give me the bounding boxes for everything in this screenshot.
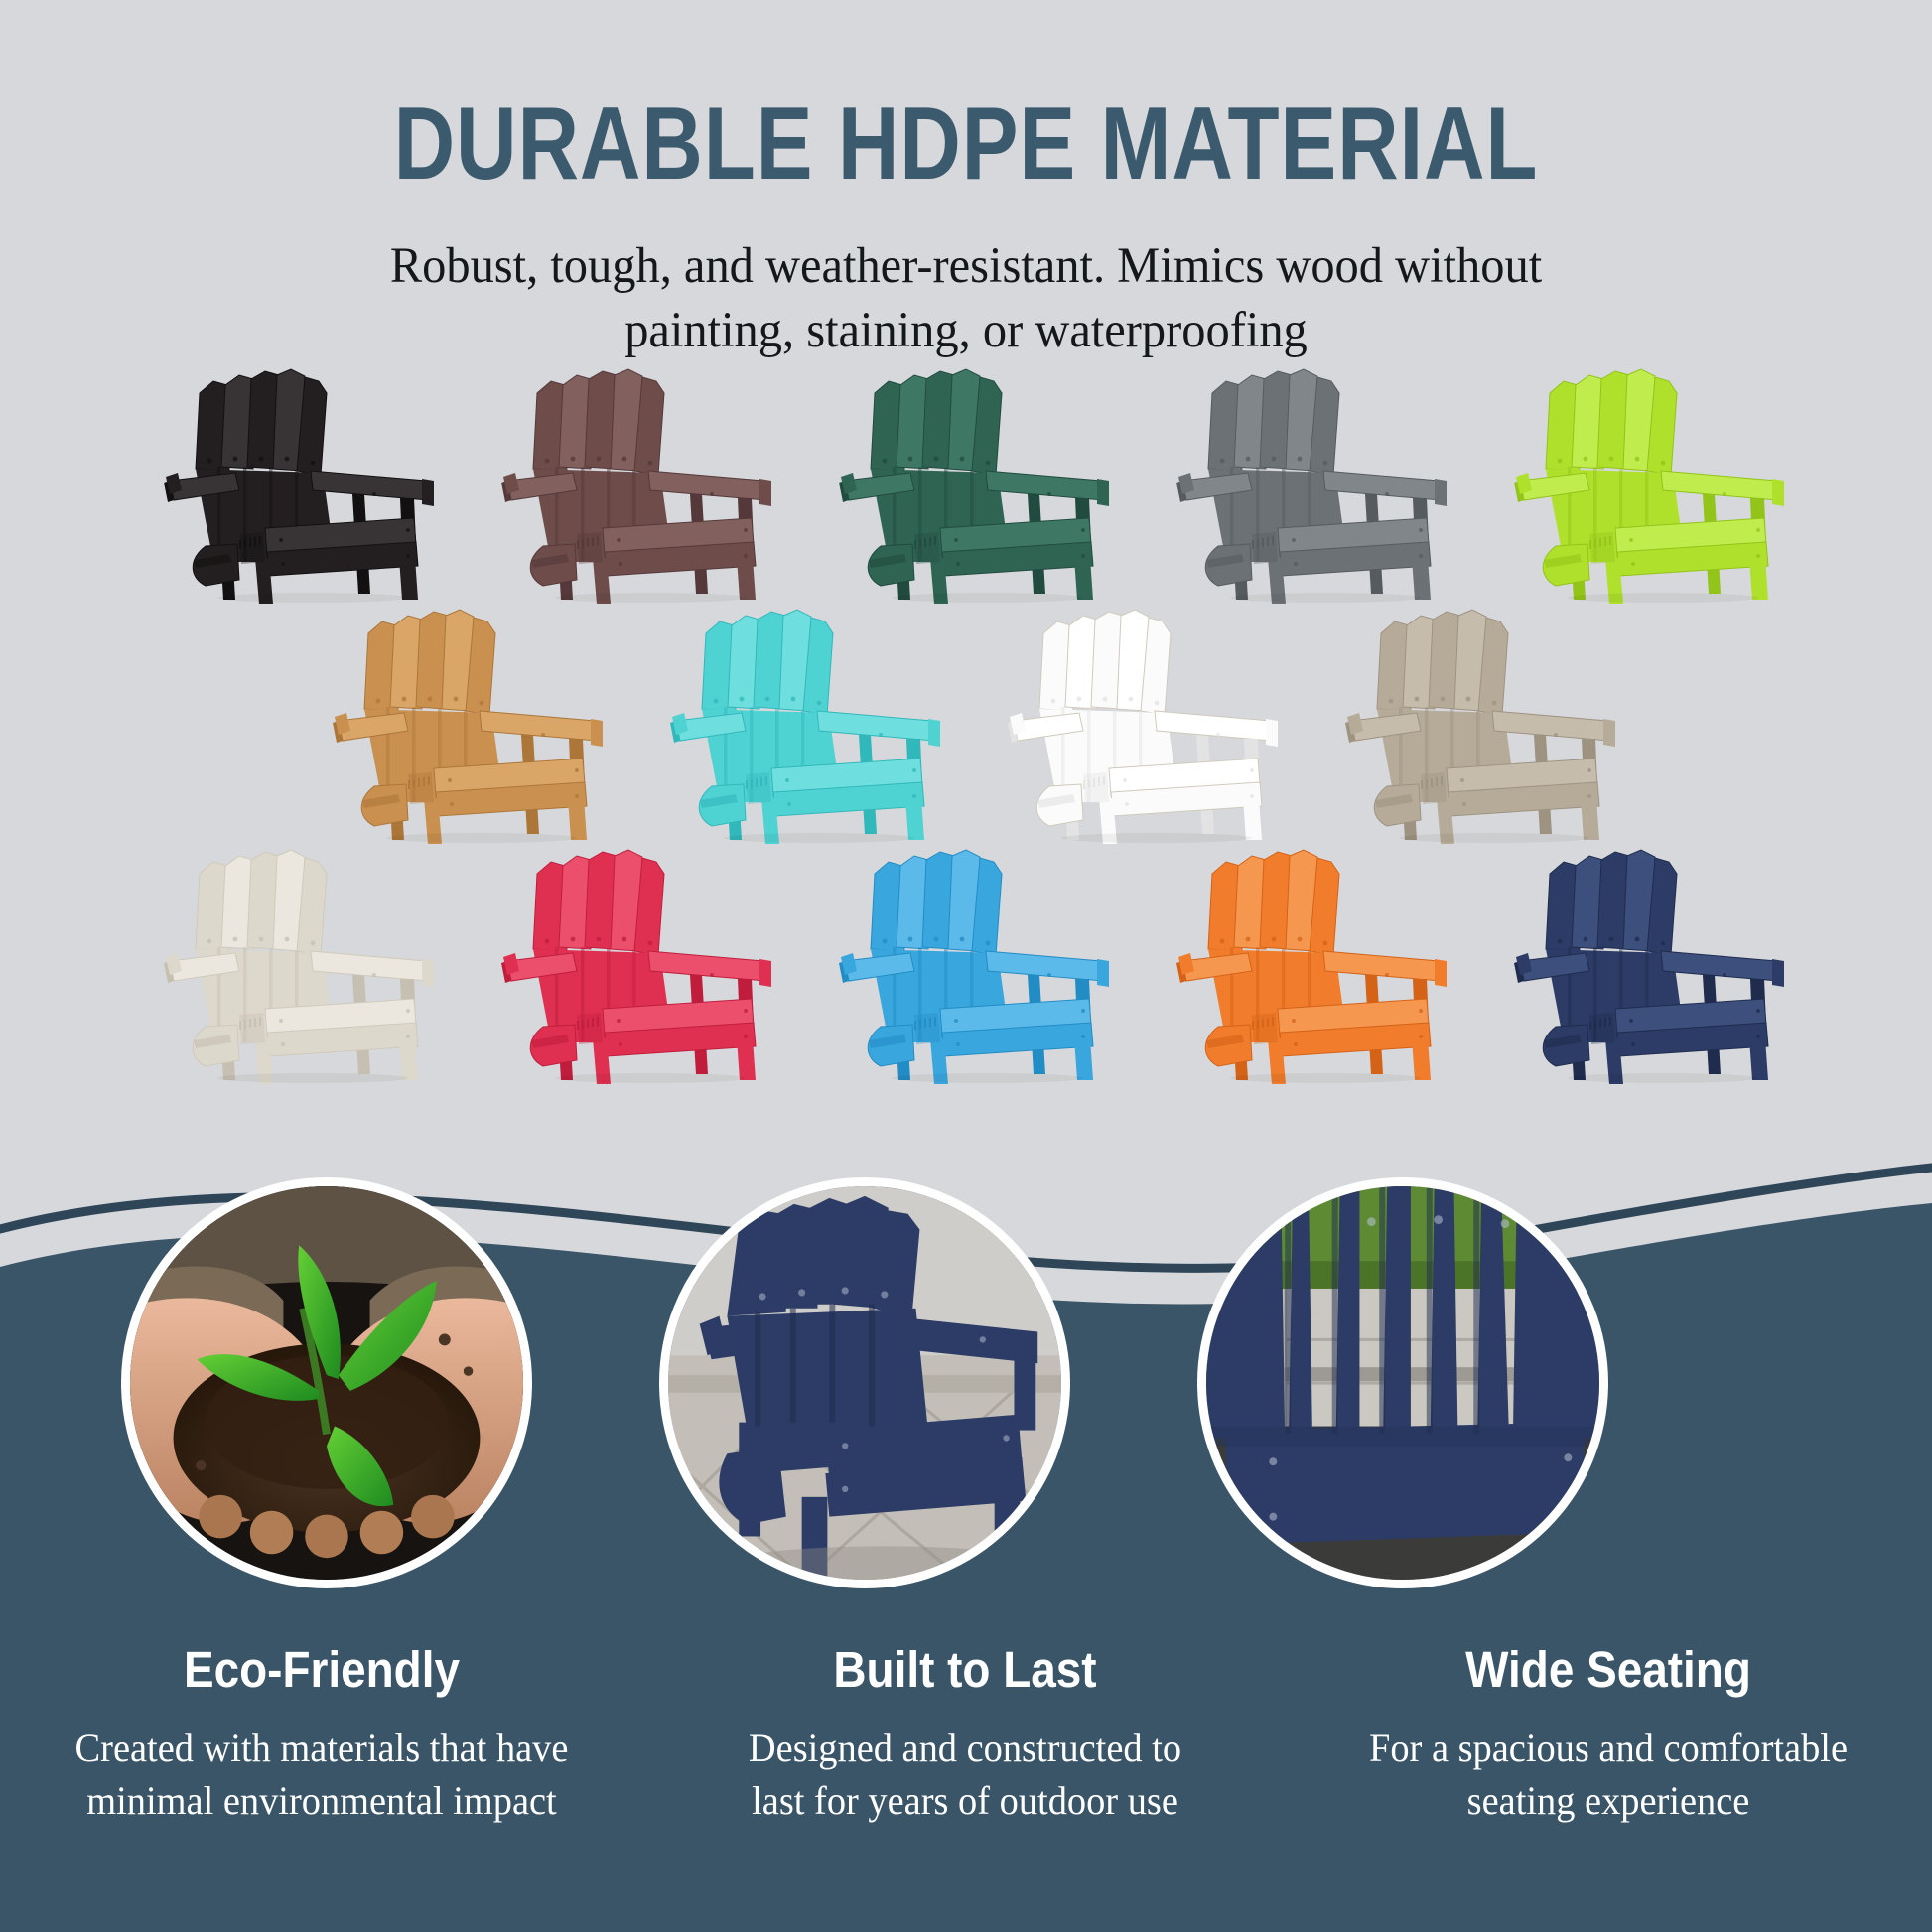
adirondack-chair-brown <box>482 349 775 604</box>
chair-swatch-beige[interactable] <box>1325 590 1619 844</box>
feature-description: Created with materials that haveminimal … <box>38 1723 606 1828</box>
feature-desc-line-1: For a spacious and comfortable <box>1369 1725 1848 1770</box>
built-to-last-photo <box>659 1177 1070 1588</box>
feature-desc-line-1: Designed and constructed to <box>749 1725 1181 1770</box>
adirondack-chair-light-blue <box>819 830 1113 1084</box>
feature-desc-line-1: Created with materials that have <box>75 1725 569 1770</box>
chair-color-grid <box>0 349 1932 1084</box>
page-title: DURABLE HDPE MATERIAL <box>174 91 1758 197</box>
chair-swatch-white[interactable] <box>988 590 1282 844</box>
adirondack-chair-ivory <box>144 830 438 1084</box>
hands-holding-seedling-icon <box>130 1186 523 1580</box>
feature-description: Designed and constructed tolast for year… <box>681 1723 1249 1828</box>
adirondack-chair-beige <box>1325 590 1619 844</box>
adirondack-chair-teak <box>313 590 607 844</box>
chair-swatch-orange[interactable] <box>1157 830 1450 1084</box>
feature-2: Built to LastDesigned and constructed to… <box>643 1640 1287 1828</box>
chair-swatch-lime-green[interactable] <box>1494 349 1788 604</box>
feature-photo-row <box>0 1177 1932 1644</box>
chair-row-2 <box>0 590 1932 844</box>
adirondack-chair-turquoise <box>650 590 944 844</box>
chair-swatch-red[interactable] <box>482 830 775 1084</box>
feature-3: Wide SeatingFor a spacious and comfortab… <box>1287 1640 1930 1828</box>
chair-row-3 <box>0 830 1932 1084</box>
adirondack-chair-orange <box>1157 830 1450 1084</box>
navy-adirondack-chair-icon <box>668 1186 1061 1580</box>
adirondack-chair-white <box>988 590 1282 844</box>
adirondack-chair-red <box>482 830 775 1084</box>
wide-seating-photo <box>1197 1177 1608 1588</box>
chair-row-1 <box>0 349 1932 604</box>
infographic-canvas: DURABLE HDPE MATERIAL Robust, tough, and… <box>0 0 1932 1932</box>
feature-1: Eco-FriendlyCreated with materials that … <box>0 1640 643 1828</box>
subtitle: Robust, tough, and weather-resistant. Mi… <box>49 234 1884 364</box>
chair-swatch-turquoise[interactable] <box>650 590 944 844</box>
feature-desc-line-2: last for years of outdoor use <box>752 1778 1178 1823</box>
chair-swatch-gray[interactable] <box>1157 349 1450 604</box>
adirondack-chair-lime-green <box>1494 349 1788 604</box>
eco-friendly-photo <box>121 1177 532 1588</box>
adirondack-chair-gray <box>1157 349 1450 604</box>
chair-swatch-brown[interactable] <box>482 349 775 604</box>
chair-swatch-black[interactable] <box>144 349 438 604</box>
feature-heading: Built to Last <box>699 1640 1231 1699</box>
chair-swatch-dark-green[interactable] <box>819 349 1113 604</box>
header-block: DURABLE HDPE MATERIAL Robust, tough, and… <box>0 0 1932 364</box>
chair-seat-closeup-icon <box>1206 1186 1599 1580</box>
feature-text-row: Eco-FriendlyCreated with materials that … <box>0 1640 1932 1828</box>
adirondack-chair-black <box>144 349 438 604</box>
chair-swatch-teak[interactable] <box>313 590 607 844</box>
feature-desc-line-2: seating experience <box>1467 1778 1750 1823</box>
feature-description: For a spacious and comfortableseating ex… <box>1324 1723 1892 1828</box>
feature-desc-line-2: minimal environmental impact <box>86 1778 556 1823</box>
chair-swatch-navy-blue[interactable] <box>1494 830 1788 1084</box>
adirondack-chair-navy-blue <box>1494 830 1788 1084</box>
subtitle-line-1: Robust, tough, and weather-resistant. Mi… <box>49 234 1884 299</box>
chair-swatch-light-blue[interactable] <box>819 830 1113 1084</box>
feature-heading: Wide Seating <box>1342 1640 1874 1699</box>
subtitle-line-2: painting, staining, or waterproofing <box>49 299 1884 363</box>
chair-swatch-ivory[interactable] <box>144 830 438 1084</box>
adirondack-chair-dark-green <box>819 349 1113 604</box>
feature-heading: Eco-Friendly <box>56 1640 588 1699</box>
